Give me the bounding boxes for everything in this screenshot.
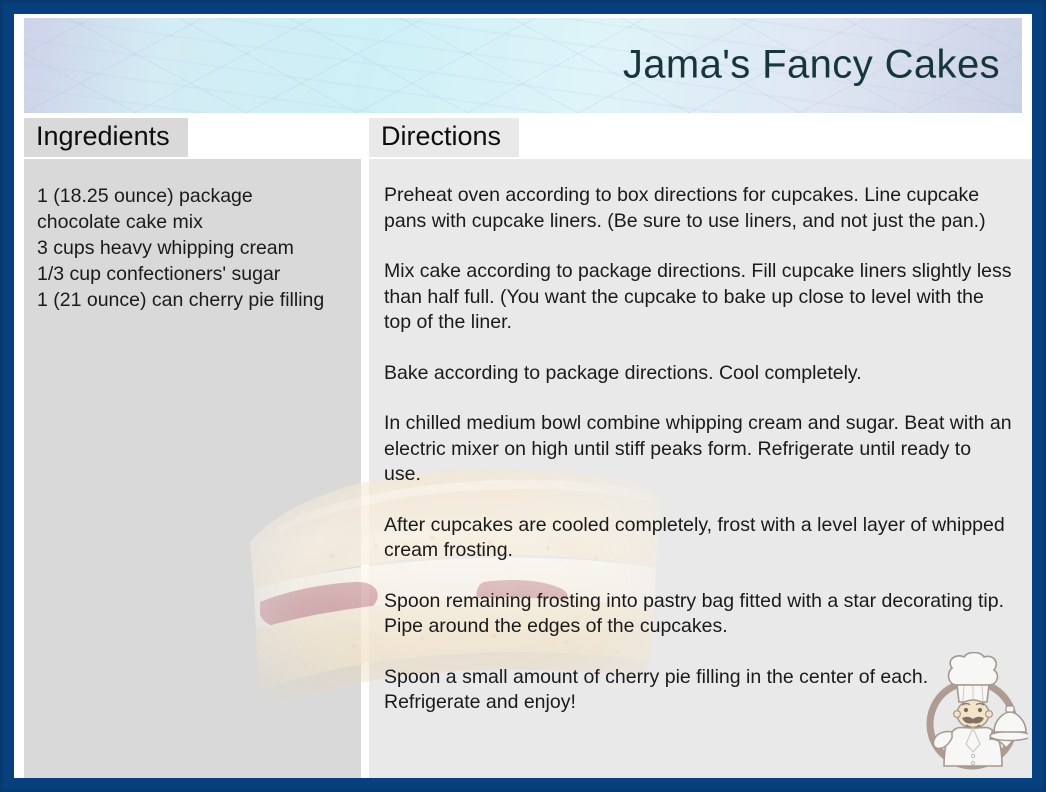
direction-step: Bake according to package directions. Co… (384, 361, 1012, 387)
recipe-card-frame: Jama's Fancy Cakes Ingredients 1 (18.25 … (0, 0, 1046, 792)
page-title: Jama's Fancy Cakes (623, 42, 1000, 87)
ingredient-item: 3 cups heavy whipping cream (37, 235, 345, 261)
direction-step: In chilled medium bowl combine whipping … (384, 411, 1012, 488)
ingredient-item: 1 (18.25 ounce) package (37, 183, 345, 209)
direction-step: Preheat oven according to box directions… (384, 183, 1012, 234)
ingredient-item: 1 (21 ounce) can cherry pie filling (37, 287, 345, 313)
header-banner: Jama's Fancy Cakes (24, 18, 1022, 113)
directions-panel: Preheat oven according to box directions… (369, 159, 1032, 778)
direction-step: Spoon a small amount of cherry pie filli… (384, 665, 1012, 716)
direction-step: Mix cake according to package directions… (384, 259, 1012, 336)
ingredient-item: chocolate cake mix (37, 209, 345, 235)
ingredients-column: Ingredients 1 (18.25 ounce) package choc… (24, 118, 361, 778)
direction-step: Spoon remaining frosting into pastry bag… (384, 589, 1012, 640)
ingredient-item: 1/3 cup confectioners' sugar (37, 261, 345, 287)
ingredients-heading: Ingredients (24, 118, 188, 157)
ingredients-panel: 1 (18.25 ounce) package chocolate cake m… (24, 159, 361, 778)
directions-heading: Directions (369, 118, 519, 157)
directions-column: Directions Preheat oven according to box… (369, 118, 1032, 778)
content-area: Ingredients 1 (18.25 ounce) package choc… (14, 118, 1032, 778)
direction-step: After cupcakes are cooled completely, fr… (384, 513, 1012, 564)
recipe-card-page: Jama's Fancy Cakes Ingredients 1 (18.25 … (14, 14, 1032, 778)
